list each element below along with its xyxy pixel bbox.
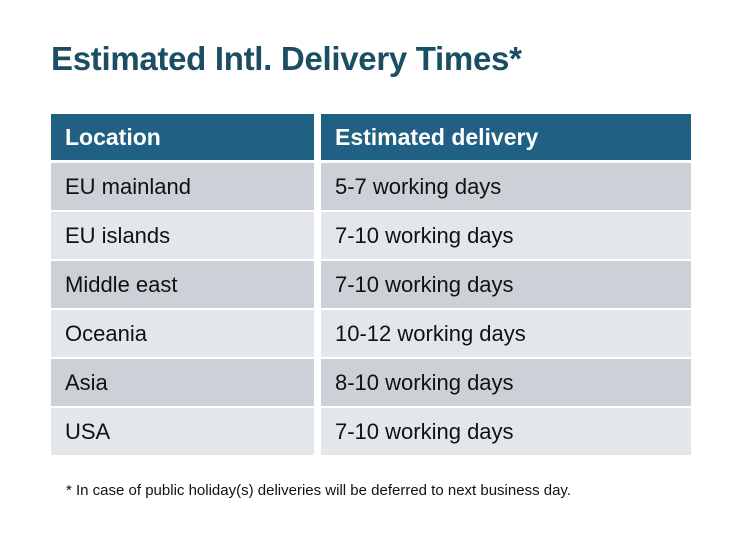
cell-location: USA bbox=[51, 408, 314, 455]
page-title: Estimated Intl. Delivery Times* bbox=[51, 38, 522, 80]
table-row: Oceania 10-12 working days bbox=[51, 310, 691, 357]
cell-location: Asia bbox=[51, 359, 314, 406]
cell-estimated-delivery: 10-12 working days bbox=[321, 310, 691, 357]
footnote-text: * In case of public holiday(s) deliverie… bbox=[66, 481, 571, 501]
cell-location: Oceania bbox=[51, 310, 314, 357]
table-row: Asia 8-10 working days bbox=[51, 359, 691, 406]
cell-estimated-delivery: 5-7 working days bbox=[321, 163, 691, 210]
cell-location: EU mainland bbox=[51, 163, 314, 210]
table-row: EU islands 7-10 working days bbox=[51, 212, 691, 259]
cell-estimated-delivery: 7-10 working days bbox=[321, 212, 691, 259]
cell-location: Middle east bbox=[51, 261, 314, 308]
cell-location: EU islands bbox=[51, 212, 314, 259]
table-row: Middle east 7-10 working days bbox=[51, 261, 691, 308]
delivery-times-table: Location Estimated delivery EU mainland … bbox=[51, 114, 691, 457]
table-row: USA 7-10 working days bbox=[51, 408, 691, 455]
cell-estimated-delivery: 7-10 working days bbox=[321, 261, 691, 308]
delivery-times-page: Estimated Intl. Delivery Times* Location… bbox=[0, 0, 745, 536]
column-header-estimated-delivery: Estimated delivery bbox=[321, 114, 691, 160]
table-row: EU mainland 5-7 working days bbox=[51, 163, 691, 210]
cell-estimated-delivery: 8-10 working days bbox=[321, 359, 691, 406]
cell-estimated-delivery: 7-10 working days bbox=[321, 408, 691, 455]
column-header-location: Location bbox=[51, 114, 314, 160]
table-header-row: Location Estimated delivery bbox=[51, 114, 691, 160]
